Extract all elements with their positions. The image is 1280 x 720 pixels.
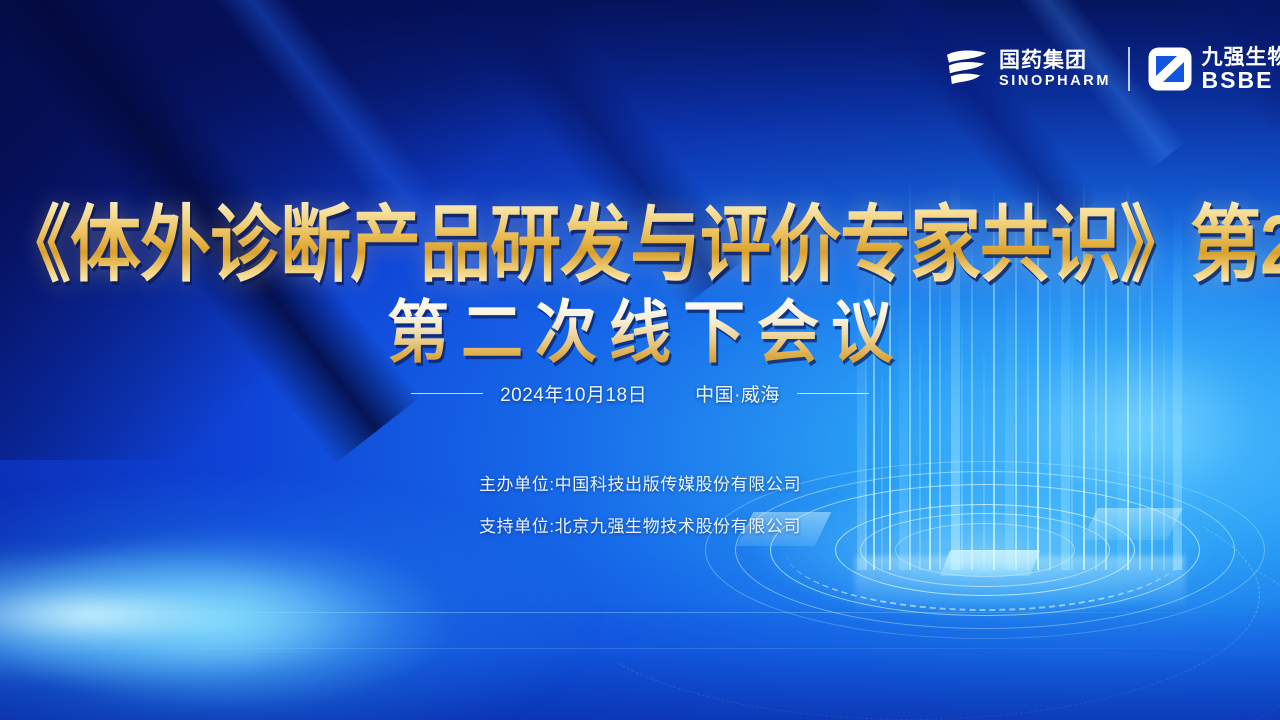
bsbe-logo: 九强生物 BSBE bbox=[1147, 46, 1280, 92]
bsbe-name-cn: 九强生物 bbox=[1202, 47, 1280, 68]
event-date: 2024年10月18日 bbox=[500, 380, 647, 407]
sinopharm-name-en: SINOPHARM bbox=[999, 74, 1111, 89]
organizers-block: 主办单位:中国科技出版传媒股份有限公司 支持单位:北京九强生物技术股份有限公司 bbox=[0, 476, 1280, 560]
sinopharm-spiral-icon bbox=[943, 47, 990, 92]
main-title-container: 《体外诊断产品研发与评价专家共识》第2版 bbox=[0, 178, 1280, 280]
date-location-row: 2024年10月18日 中国·威海 bbox=[0, 380, 1280, 407]
organizer-host: 主办单位:中国科技出版传媒股份有限公司 bbox=[0, 476, 1280, 493]
bsbe-square-s-icon bbox=[1147, 46, 1193, 92]
event-location: 中国·威海 bbox=[695, 380, 780, 407]
subtitle: 第二次线下会议 bbox=[0, 277, 1280, 376]
background-glow-left-core bbox=[0, 545, 400, 685]
sinopharm-name-cn: 国药集团 bbox=[999, 50, 1111, 71]
sinopharm-logo: 国药集团 SINOPHARM bbox=[943, 47, 1111, 92]
bsbe-name-en: BSBE bbox=[1202, 69, 1280, 92]
organizer-supporter: 支持单位:北京九强生物技术股份有限公司 bbox=[0, 518, 1280, 535]
logo-bar: 国药集团 SINOPHARM 九强生物 BSBE bbox=[943, 40, 1280, 98]
rule-right bbox=[797, 393, 869, 394]
subtitle-container: 第二次线下会议 bbox=[0, 277, 1280, 367]
conference-banner: 国药集团 SINOPHARM 九强生物 BSBE 《体外诊断产品研发与评价专家共… bbox=[0, 0, 1280, 720]
rule-left bbox=[411, 393, 483, 394]
logo-divider bbox=[1128, 47, 1130, 91]
